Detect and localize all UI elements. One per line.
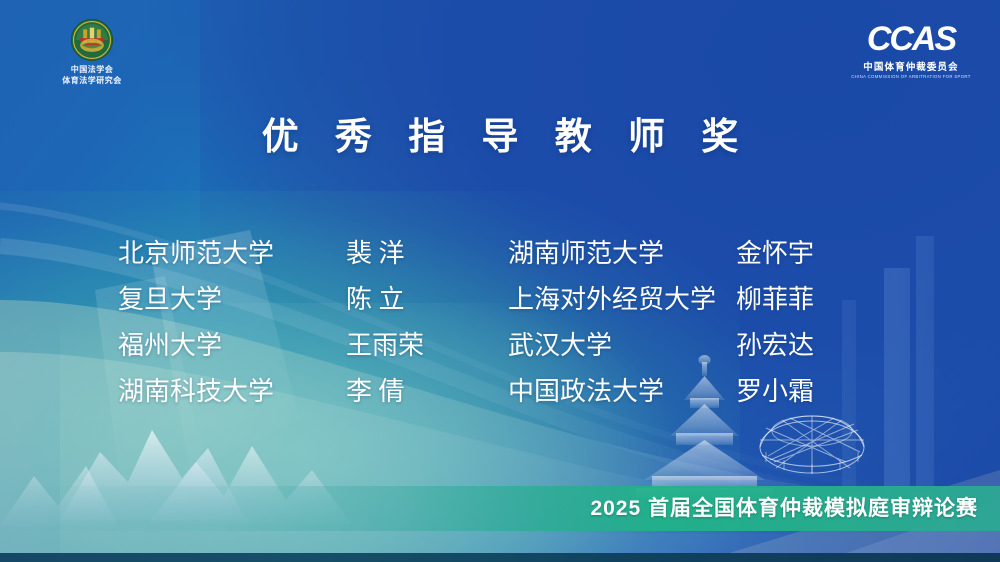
ccas-logo: CCAS 中国体育仲裁委员会 CHINA COMMISSION OF ARBIT…	[846, 22, 976, 79]
award-slide: 2025 首届全国体育仲裁模拟庭审辩论赛 中国法学会 体育法学研究会 CCAS …	[0, 0, 1000, 562]
teacher-name: 罗小霜	[736, 371, 846, 408]
logo-left-line2: 体育法学研究会	[44, 76, 140, 87]
page-title: 优 秀 指 导 教 师 奖	[0, 106, 1000, 160]
award-row: 复旦大学 陈 立 上海对外经贸大学 柳菲菲	[118, 279, 888, 325]
bottom-edge-strip	[0, 553, 1000, 562]
award-row: 湖南科技大学 李 倩 中国政法大学 罗小霜	[118, 371, 888, 417]
ccas-chinese-name: 中国体育仲裁委员会	[846, 59, 976, 73]
event-title: 2025 首届全国体育仲裁模拟庭审辩论赛	[590, 492, 978, 522]
school-name: 武汉大学	[508, 325, 736, 362]
award-entry: 福州大学 王雨荣	[118, 325, 508, 362]
award-entry: 复旦大学 陈 立	[118, 279, 508, 316]
award-row: 福州大学 王雨荣 武汉大学 孙宏达	[118, 325, 888, 371]
award-list: 北京师范大学 裴 洋 湖南师范大学 金怀宇 复旦大学 陈 立 上海对外经贸大学 …	[118, 233, 888, 417]
teacher-name: 王雨荣	[346, 325, 456, 362]
award-entry: 武汉大学 孙宏达	[508, 325, 888, 362]
ccas-wordmark: CCAS	[846, 22, 976, 56]
teacher-name: 金怀宇	[736, 233, 846, 270]
school-name: 北京师范大学	[118, 233, 346, 270]
award-entry: 上海对外经贸大学 柳菲菲	[508, 279, 888, 316]
school-name: 复旦大学	[118, 279, 346, 316]
school-name: 上海对外经贸大学	[508, 279, 736, 316]
award-entry: 北京师范大学 裴 洋	[118, 233, 508, 270]
ccas-english-name: CHINA COMMISSION OF ARBITRATION FOR SPOR…	[847, 74, 974, 79]
teacher-name: 李 倩	[346, 371, 456, 408]
logo-left-line1: 中国法学会	[44, 65, 140, 76]
teacher-name: 孙宏达	[736, 325, 846, 362]
teacher-name: 陈 立	[346, 279, 456, 316]
china-law-society-logo: 中国法学会 体育法学研究会	[44, 18, 140, 87]
teacher-name: 柳菲菲	[736, 279, 846, 316]
teacher-name: 裴 洋	[346, 233, 456, 270]
award-entry: 湖南师范大学 金怀宇	[508, 233, 888, 270]
school-name: 湖南师范大学	[508, 233, 736, 270]
award-row: 北京师范大学 裴 洋 湖南师范大学 金怀宇	[118, 233, 888, 279]
school-name: 中国政法大学	[508, 371, 736, 408]
award-entry: 中国政法大学 罗小霜	[508, 371, 888, 408]
award-entry: 湖南科技大学 李 倩	[118, 371, 508, 408]
school-name: 湖南科技大学	[118, 371, 346, 408]
china-law-society-emblem	[70, 18, 114, 62]
school-name: 福州大学	[118, 325, 346, 362]
